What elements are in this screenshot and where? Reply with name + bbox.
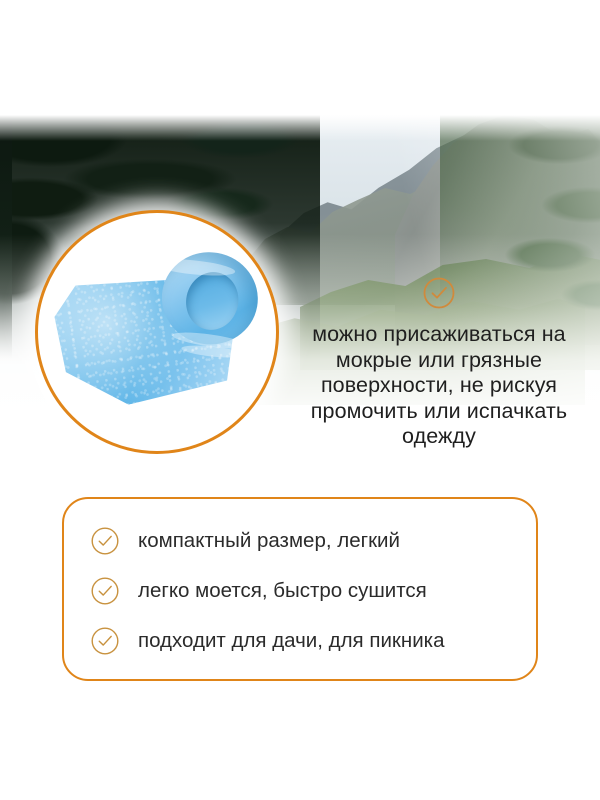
infographic-page: можно присаживаться на мокрые или грязны… [0,0,600,800]
list-item: подходит для дачи, для пикника [90,616,536,666]
list-item-label: легко моется, быстро сушится [138,579,427,603]
check-circle-icon [90,526,120,556]
headline-text: можно присаживаться на мокрые или грязны… [288,322,590,450]
foam-mat-illustration [38,242,275,423]
check-circle-icon [422,276,456,310]
feature-card: компактный размер, легкий легко моется, … [62,497,538,681]
photo-top-fade [0,115,600,141]
list-item-label: подходит для дачи, для пикника [138,629,444,653]
list-item: легко моется, быстро сушится [90,566,536,616]
feature-list: компактный размер, легкий легко моется, … [64,499,536,666]
list-item: компактный размер, легкий [90,516,536,566]
check-circle-icon [90,626,120,656]
product-image-circle [35,210,279,454]
list-item-label: компактный размер, легкий [138,529,400,553]
check-circle-icon [90,576,120,606]
headline-block: можно присаживаться на мокрые или грязны… [288,276,590,450]
